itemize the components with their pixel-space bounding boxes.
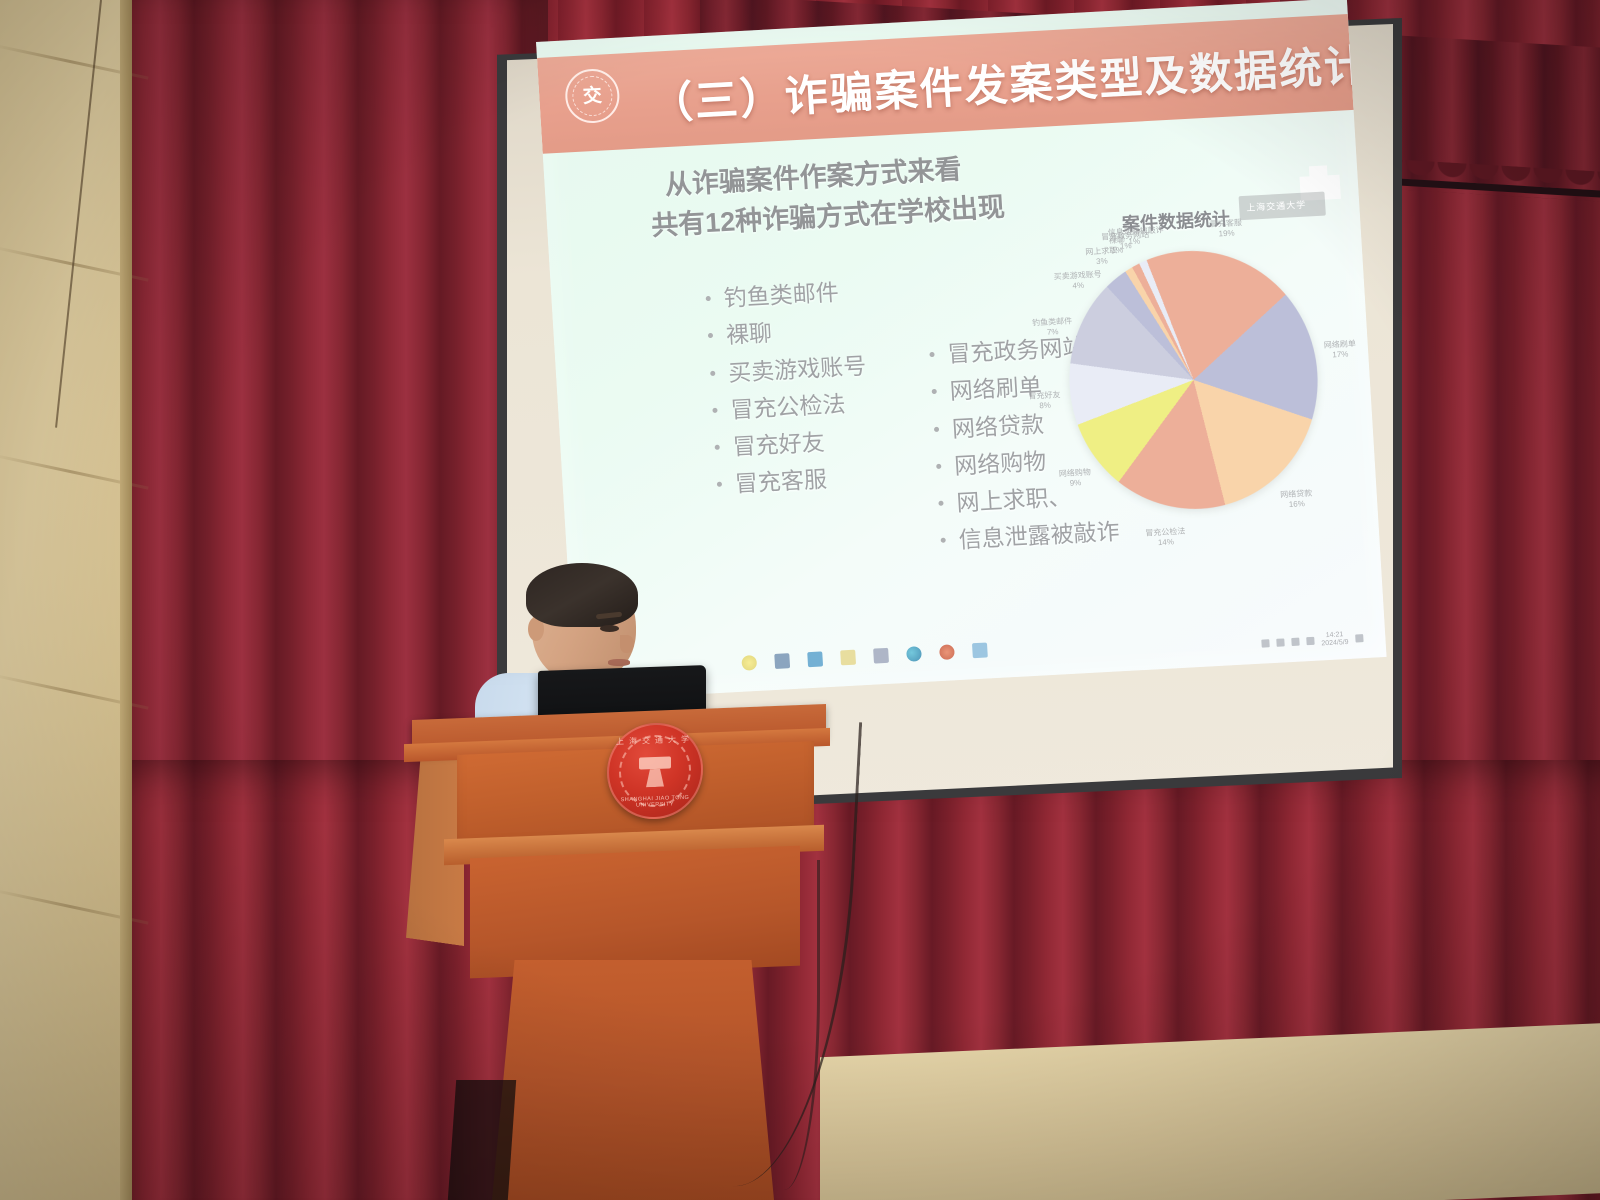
mail-icon[interactable]	[807, 651, 823, 667]
speaker-nose	[620, 635, 634, 653]
podium-shadow	[448, 1080, 516, 1200]
slide-corner-shape-small	[1309, 165, 1328, 182]
speaker-hair	[526, 563, 638, 627]
pie-slice-label: 网络刷单 17%	[1314, 339, 1367, 362]
pie-slice-label: 买卖游戏账号 4%	[1051, 269, 1104, 292]
record-icon[interactable]	[939, 644, 955, 660]
pie-chart: 案件数据统计 冒充客服 19%网络刷单 17%网络贷款 16%冒充公检法 14%…	[999, 198, 1375, 616]
pie-slice-label: 冒充公检法 14%	[1139, 526, 1192, 549]
battery-icon[interactable]	[1276, 638, 1284, 646]
chart-title: 案件数据统计	[999, 198, 1352, 243]
store-icon[interactable]	[840, 649, 856, 665]
emblem-cn-text: 上海交通大学	[609, 733, 701, 747]
speaker-eye	[600, 625, 619, 632]
tray-date: 2024/5/9	[1321, 639, 1349, 647]
pie-slice-label: 钓鱼类邮件 7%	[1026, 316, 1079, 339]
tray-clock[interactable]: 14:21 2024/5/9	[1321, 631, 1349, 649]
system-tray[interactable]: 14:21 2024/5/9	[1261, 630, 1364, 652]
anvil-icon	[635, 750, 675, 791]
notification-icon[interactable]	[1355, 634, 1363, 642]
pie-slice-label: 冒充好友 8%	[1018, 390, 1071, 413]
taskbar	[741, 625, 1162, 678]
pie-slice-label: 网络贷款 16%	[1270, 488, 1323, 511]
pie-slice-label: 冒充客服 19%	[1200, 218, 1253, 241]
copilot-icon[interactable]	[741, 654, 757, 670]
volume-icon[interactable]	[1306, 637, 1314, 645]
pie-slice-label: 信息泄露被敲诈 1%	[1107, 226, 1160, 249]
tray-time: 14:21	[1326, 631, 1344, 639]
edge-icon[interactable]	[906, 646, 922, 662]
university-emblem: 上海交通大学 SHANGHAI JIAO TONG UNIVERSITY	[607, 721, 703, 820]
list-item: 冒充客服	[712, 459, 874, 505]
seal-glyph: 交	[582, 86, 602, 106]
explorer-icon[interactable]	[873, 647, 889, 663]
lecture-hall-photo: 交 （三）诈骗案件发案类型及数据统计 上海交通大学 从诈骗案件作案方式来看 共有…	[0, 0, 1600, 1200]
pie-slice-label: 网络购物 9%	[1049, 467, 1102, 490]
network-icon[interactable]	[1291, 638, 1299, 646]
chevron-up-icon[interactable]	[1261, 639, 1269, 647]
wood-panel-wall	[0, 0, 128, 1200]
bullet-list-left: 钓鱼类邮件 裸聊 买卖游戏账号 冒充公检法 冒充好友 冒充客服	[661, 273, 874, 507]
wall-corner-trim	[120, 0, 132, 1200]
photos-icon[interactable]	[972, 642, 988, 658]
task-view-icon[interactable]	[774, 653, 790, 669]
speaker-mouth	[608, 659, 630, 666]
